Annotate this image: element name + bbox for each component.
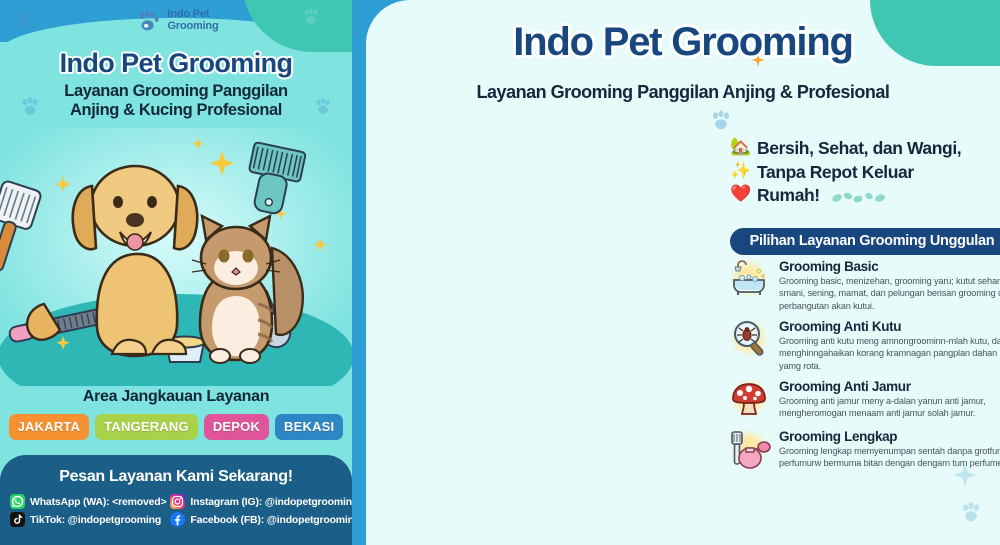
facebook-icon [170, 512, 185, 527]
toothbrush-perfume-icon [726, 426, 772, 472]
social-tiktok-label: TikTok: @indopetgrooming [30, 514, 161, 526]
tagline-text: Rumah! [757, 185, 820, 206]
pets-illustration [0, 128, 352, 386]
paw-print-icon [708, 108, 734, 134]
area-badge-depok[interactable]: DEPOK [204, 414, 269, 440]
brand-logo: Indo Pet Grooming [0, 8, 352, 34]
service-item[interactable]: Grooming Anti Kutu Grooming anti kutu me… [726, 316, 1000, 372]
left-subtitle-line2: Anjing & Kucing Profesional [0, 101, 352, 120]
tiktok-icon [10, 512, 25, 527]
area-badge-jakarta[interactable]: JAKARTA [9, 414, 90, 440]
left-footer: Pesan Layanan Kami Sekarang! WhatsApp (W… [0, 455, 352, 545]
social-whatsapp-label: WhatsApp (WA): <removed> [30, 496, 166, 508]
tagline-text: Bersih, Sehat, dan Wangi, [757, 138, 961, 159]
service-text: Grooming Lengkap Grooming lengkap memyen… [779, 426, 1000, 470]
pet-grooming-flyer: Indo Pet Grooming Indo Pet Grooming Laya… [0, 0, 1000, 545]
house-icon: 🏡 [730, 138, 750, 155]
right-subtitle: Layanan Grooming Panggilan Anjing & Prof… [366, 82, 1000, 103]
tagline-row: ❤️ Rumah! [730, 185, 1000, 206]
right-flyer-panel: Indo Pet Grooming Layanan Grooming Pangg… [352, 0, 1000, 545]
leaf-sprigs-icon [831, 189, 895, 205]
tagline-row: ✨ Tanpa Repot Keluar [730, 162, 1000, 183]
service-text: Grooming Anti Jamur Grooming anti jamur … [779, 376, 1000, 420]
tagline-block: 🏡 Bersih, Sehat, dan Wangi, ✨ Tanpa Repo… [730, 138, 1000, 209]
service-description: Grooming anti jamur meny a-dalan yanun a… [779, 395, 1000, 420]
social-instagram[interactable]: Instagram (IG): @indopetgrooming [170, 494, 352, 509]
paw-print-icon [134, 8, 162, 34]
mushroom-icon [726, 376, 772, 422]
brand-logo-text: Indo Pet Grooming [168, 9, 219, 32]
service-name: Grooming Lengkap [779, 429, 1000, 444]
service-item[interactable]: Grooming Basic Grooming basic, menizehan… [726, 256, 1000, 312]
service-item[interactable]: Grooming Anti Jamur Grooming anti jamur … [726, 376, 1000, 422]
social-whatsapp[interactable]: WhatsApp (WA): <removed> [10, 494, 166, 509]
service-description: Grooming lengkap memyenumpan sentah danp… [779, 445, 1000, 470]
service-name: Grooming Anti Jamur [779, 379, 1000, 394]
social-instagram-label: Instagram (IG): @indopetgrooming [190, 496, 352, 508]
area-badge-bekasi[interactable]: BEKASI [275, 414, 343, 440]
left-subtitle-line1: Layanan Grooming Panggilan [0, 82, 352, 101]
services-heading: Pilihan Layanan Grooming Unggulan [730, 228, 1000, 255]
service-description: Grooming anti kutu meng amnongroominn-ml… [779, 335, 1000, 372]
services-list: Grooming Basic Grooming basic, menizehan… [726, 256, 1000, 476]
area-badge-tangerang[interactable]: TANGERANG [95, 414, 198, 440]
service-name: Grooming Basic [779, 259, 1000, 274]
tagline-row: 🏡 Bersih, Sehat, dan Wangi, [730, 138, 1000, 159]
tagline-text: Tanpa Repot Keluar [757, 162, 914, 183]
left-subtitle: Layanan Grooming Panggilan Anjing & Kuci… [0, 82, 352, 121]
social-tiktok[interactable]: TikTok: @indopetgrooming [10, 512, 166, 527]
right-page-title: Indo Pet Grooming [366, 20, 1000, 65]
sparkles-icon: ✨ [730, 162, 750, 179]
social-facebook[interactable]: Facebook (FB): @indopetgroomin [170, 512, 352, 527]
magnifier-bug-icon [726, 316, 772, 362]
left-flyer-panel: Indo Pet Grooming Indo Pet Grooming Laya… [0, 0, 352, 545]
left-social-list: WhatsApp (WA): <removed> Instagram (IG):… [0, 486, 352, 527]
left-footer-title: Pesan Layanan Kami Sekarang! [0, 468, 352, 486]
left-area-title: Area Jangkauan Layanan [0, 388, 352, 406]
service-name: Grooming Anti Kutu [779, 319, 1000, 334]
left-area-badges: JAKARTA TANGERANG DEPOK BEKASI [0, 414, 352, 440]
service-text: Grooming Anti Kutu Grooming anti kutu me… [779, 316, 1000, 372]
whatsapp-icon [10, 494, 25, 509]
bathtub-icon [726, 256, 772, 302]
left-page-title: Indo Pet Grooming [0, 48, 352, 79]
service-text: Grooming Basic Grooming basic, menizehan… [779, 256, 1000, 312]
brand-logo-line2: Grooming [168, 21, 219, 33]
social-facebook-label: Facebook (FB): @indopetgroomin [190, 514, 352, 526]
paw-print-icon [958, 500, 984, 526]
service-item[interactable]: Grooming Lengkap Grooming lengkap memyen… [726, 426, 1000, 472]
instagram-icon [170, 494, 185, 509]
service-description: Grooming basic, menizehan, grooming yaru… [779, 275, 1000, 312]
heart-icon: ❤️ [730, 185, 750, 202]
